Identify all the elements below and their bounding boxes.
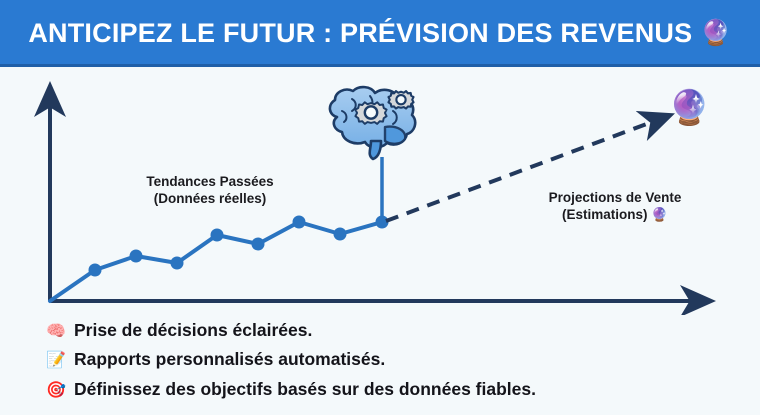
page-title: ANTICIPEZ LE FUTUR : PRÉVISION DES REVEN… — [28, 18, 731, 49]
crystal-ball-end-icon: 🔮 — [668, 91, 710, 125]
list-item: 🎯 Définissez des objectifs basés sur des… — [46, 377, 746, 402]
list-item-label: Rapports personnalisés automatisés. — [74, 347, 385, 372]
data-point — [334, 228, 347, 241]
gear-icon — [355, 102, 386, 124]
chart-container: 🔮 Tendances Passées (Données réelles) Pr… — [0, 67, 760, 315]
series-past-trend — [50, 216, 389, 302]
data-point — [89, 264, 102, 277]
brain-with-gears-icon — [315, 83, 435, 168]
label-past-line2: (Données réelles) — [154, 191, 267, 206]
target-icon: 🎯 — [46, 383, 66, 399]
data-point — [211, 229, 224, 242]
data-point — [252, 238, 265, 251]
data-point — [293, 216, 306, 229]
gear-icon — [388, 91, 413, 108]
list-item-label: Prise de décisions éclairées. — [74, 318, 312, 343]
benefits-list: 🧠 Prise de décisions éclairées. 📝 Rappor… — [46, 318, 746, 406]
list-item-label: Définissez des objectifs basés sur des d… — [74, 377, 536, 402]
crystal-ball-icon: 🔮 — [700, 21, 731, 46]
list-item: 📝 Rapports personnalisés automatisés. — [46, 347, 746, 372]
label-future-line2: (Estimations) 🔮 — [562, 207, 668, 222]
label-past-trend: Tendances Passées (Données réelles) — [110, 173, 310, 208]
label-past-line1: Tendances Passées — [146, 174, 273, 189]
header-banner: ANTICIPEZ LE FUTUR : PRÉVISION DES REVEN… — [0, 0, 760, 66]
memo-icon: 📝 — [46, 353, 66, 369]
page-title-text: ANTICIPEZ LE FUTUR : PRÉVISION DES REVEN… — [28, 18, 692, 49]
brain-icon: 🧠 — [46, 324, 66, 340]
label-future-projection: Projections de Vente (Estimations) 🔮 — [505, 189, 725, 224]
data-point — [130, 250, 143, 263]
data-point — [171, 257, 184, 270]
label-future-line1: Projections de Vente — [549, 190, 682, 205]
list-item: 🧠 Prise de décisions éclairées. — [46, 318, 746, 343]
